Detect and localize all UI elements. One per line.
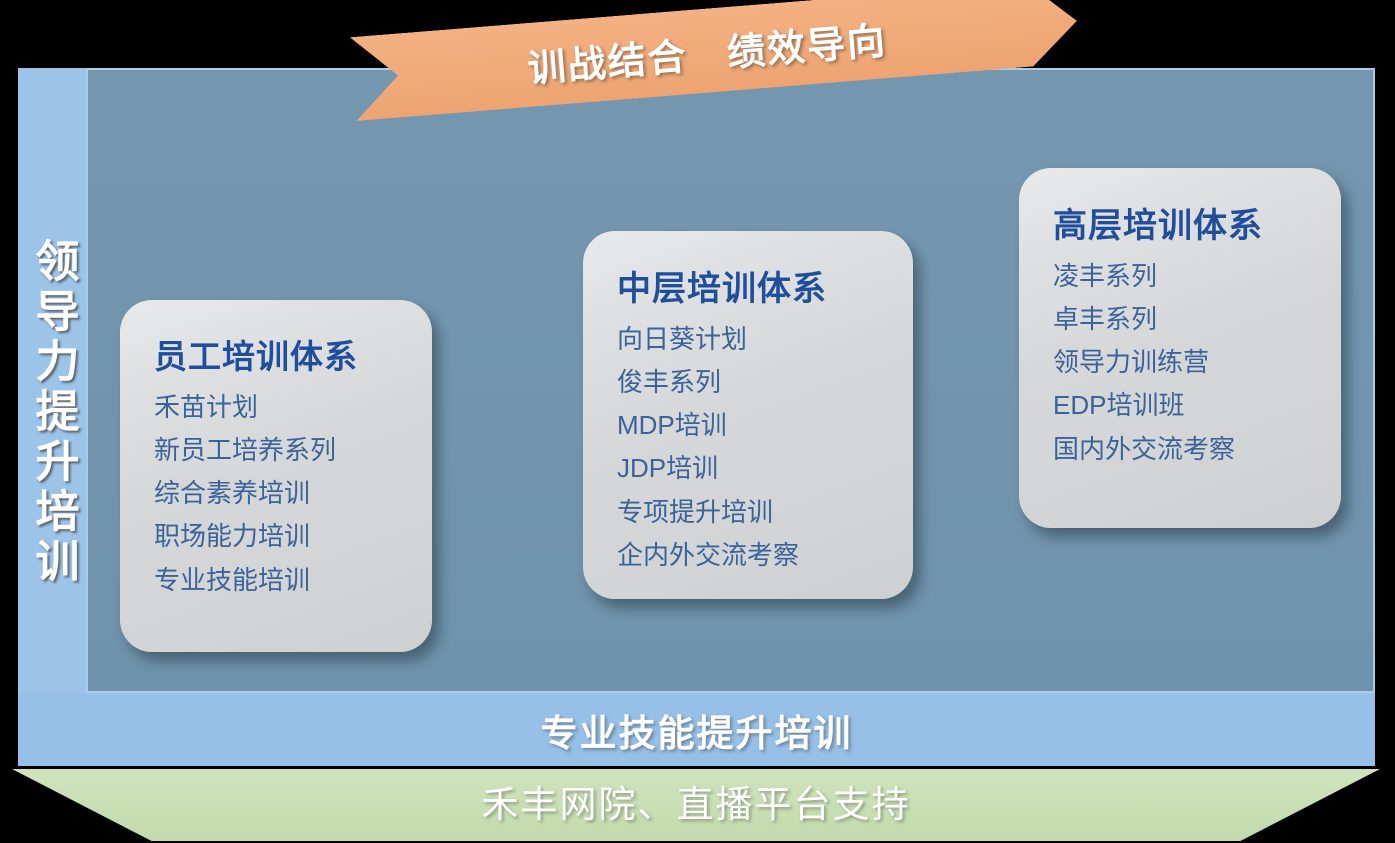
platform-support-band: 禾丰网院、直播平台支持 <box>12 769 1380 841</box>
list-item: 卓丰系列 <box>1053 298 1315 341</box>
list-item: 凌丰系列 <box>1053 255 1315 298</box>
list-item: MDP培训 <box>617 404 887 447</box>
senior-management-training-title: 高层培训体系 <box>1053 198 1315 247</box>
list-item: 专业技能培训 <box>154 559 406 602</box>
staff-training-box: 员工培训体系 禾苗计划 新员工培养系列 综合素养培训 职场能力培训 专业技能培训 <box>120 300 432 652</box>
list-item: 综合素养培训 <box>154 472 406 515</box>
leadership-development-label: 领导力提升培训 <box>30 238 75 588</box>
leadership-development-bar: 领导力提升培训 <box>18 68 86 758</box>
list-item: 俊丰系列 <box>617 361 887 404</box>
professional-skill-label: 专业技能提升培训 <box>541 703 853 757</box>
list-item: 专项提升培训 <box>617 491 887 534</box>
list-item: 国内外交流考察 <box>1053 428 1315 471</box>
diagram-canvas: 领导力提升培训 训战结合 绩效导向 员工培训体系 禾苗计划 新员工培养系列 综合… <box>0 0 1395 843</box>
staff-training-list: 禾苗计划 新员工培养系列 综合素养培训 职场能力培训 专业技能培训 <box>154 386 406 602</box>
professional-skill-bar: 专业技能提升培训 <box>18 693 1375 766</box>
list-item: 企内外交流考察 <box>617 534 887 577</box>
senior-management-training-box: 高层培训体系 凌丰系列 卓丰系列 领导力训练营 EDP培训班 国内外交流考察 <box>1019 168 1341 528</box>
list-item: 向日葵计划 <box>617 318 887 361</box>
list-item: EDP培训班 <box>1053 384 1315 427</box>
middle-management-training-list: 向日葵计划 俊丰系列 MDP培训 JDP培训 专项提升培训 企内外交流考察 <box>617 318 887 577</box>
senior-management-training-list: 凌丰系列 卓丰系列 领导力训练营 EDP培训班 国内外交流考察 <box>1053 255 1315 471</box>
platform-support-label: 禾丰网院、直播平台支持 <box>482 774 911 828</box>
middle-management-training-title: 中层培训体系 <box>617 261 887 310</box>
list-item: 职场能力培训 <box>154 515 406 558</box>
list-item: 禾苗计划 <box>154 386 406 429</box>
middle-management-training-box: 中层培训体系 向日葵计划 俊丰系列 MDP培训 JDP培训 专项提升培训 企内外… <box>583 231 913 599</box>
staff-training-title: 员工培训体系 <box>154 330 406 378</box>
slogan-ribbon-label: 训战结合 绩效导向 <box>525 9 888 93</box>
list-item: JDP培训 <box>617 447 887 490</box>
list-item: 新员工培养系列 <box>154 429 406 472</box>
list-item: 领导力训练营 <box>1053 341 1315 384</box>
